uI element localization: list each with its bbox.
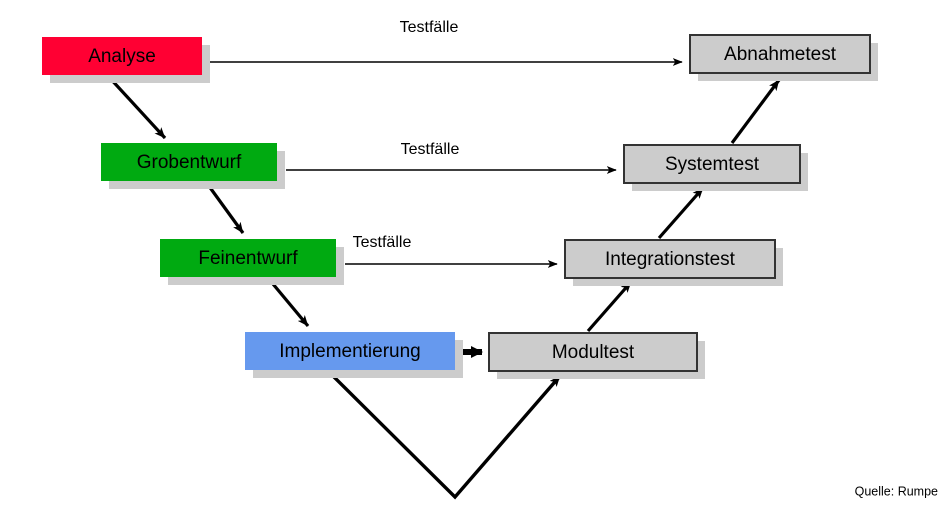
node-integrationstest[interactable]: Integrationstest (565, 240, 775, 278)
edge-integrationstest-to-systemtest (659, 188, 703, 238)
edge-modultest-to-integrationstest (588, 282, 631, 331)
node-shadows-right (497, 43, 878, 379)
node-grobentwurf-label: Grobentwurf (137, 152, 242, 173)
right-flow-edges-group (588, 80, 779, 331)
v-connector-implementierung-modultest (330, 373, 560, 497)
edge-testfaelle-grobentwurf-systemtest: Testfälle (286, 141, 616, 170)
edge-grobentwurf-to-feinentwurf (206, 182, 243, 233)
edge-analyse-to-grobentwurf (108, 76, 165, 138)
node-feinentwurf[interactable]: Feinentwurf (160, 239, 336, 277)
node-modultest[interactable]: Modultest (489, 333, 697, 371)
node-analyse-label: Analyse (88, 46, 156, 67)
source-note: Quelle: Rumpe (855, 484, 938, 498)
node-grobentwurf[interactable]: Grobentwurf (101, 143, 277, 181)
edge-systemtest-to-abnahmetest (732, 80, 779, 143)
edge-label-testfaelle-1: Testfälle (400, 19, 459, 36)
horizontal-edges-group: Testfälle Testfälle Testfälle (210, 19, 682, 264)
node-analyse[interactable]: Analyse (42, 37, 202, 75)
node-implementierung[interactable]: Implementierung (245, 332, 455, 370)
left-flow-edges-group (108, 76, 308, 326)
node-abnahmetest[interactable]: Abnahmetest (690, 35, 870, 73)
node-modultest-label: Modultest (552, 342, 635, 363)
node-systemtest-label: Systemtest (665, 154, 760, 175)
node-implementierung-label: Implementierung (279, 341, 421, 362)
diagram-canvas: Testfälle Testfälle Testfälle (0, 0, 951, 517)
edge-feinentwurf-to-implementierung (268, 278, 308, 326)
edge-testfaelle-feinentwurf-integrationstest: Testfälle (345, 234, 557, 264)
node-shadows-left (50, 45, 463, 378)
edge-label-testfaelle-3: Testfälle (353, 234, 412, 251)
node-abnahmetest-label: Abnahmetest (724, 44, 837, 65)
node-feinentwurf-label: Feinentwurf (198, 248, 298, 269)
node-systemtest[interactable]: Systemtest (624, 145, 800, 183)
v-model-diagram: Testfälle Testfälle Testfälle (0, 0, 951, 517)
v-connector-path (330, 373, 560, 497)
node-integrationstest-label: Integrationstest (605, 249, 736, 270)
edge-label-testfaelle-2: Testfälle (401, 141, 460, 158)
edge-testfaelle-analyse-abnahmetest: Testfälle (210, 19, 682, 62)
